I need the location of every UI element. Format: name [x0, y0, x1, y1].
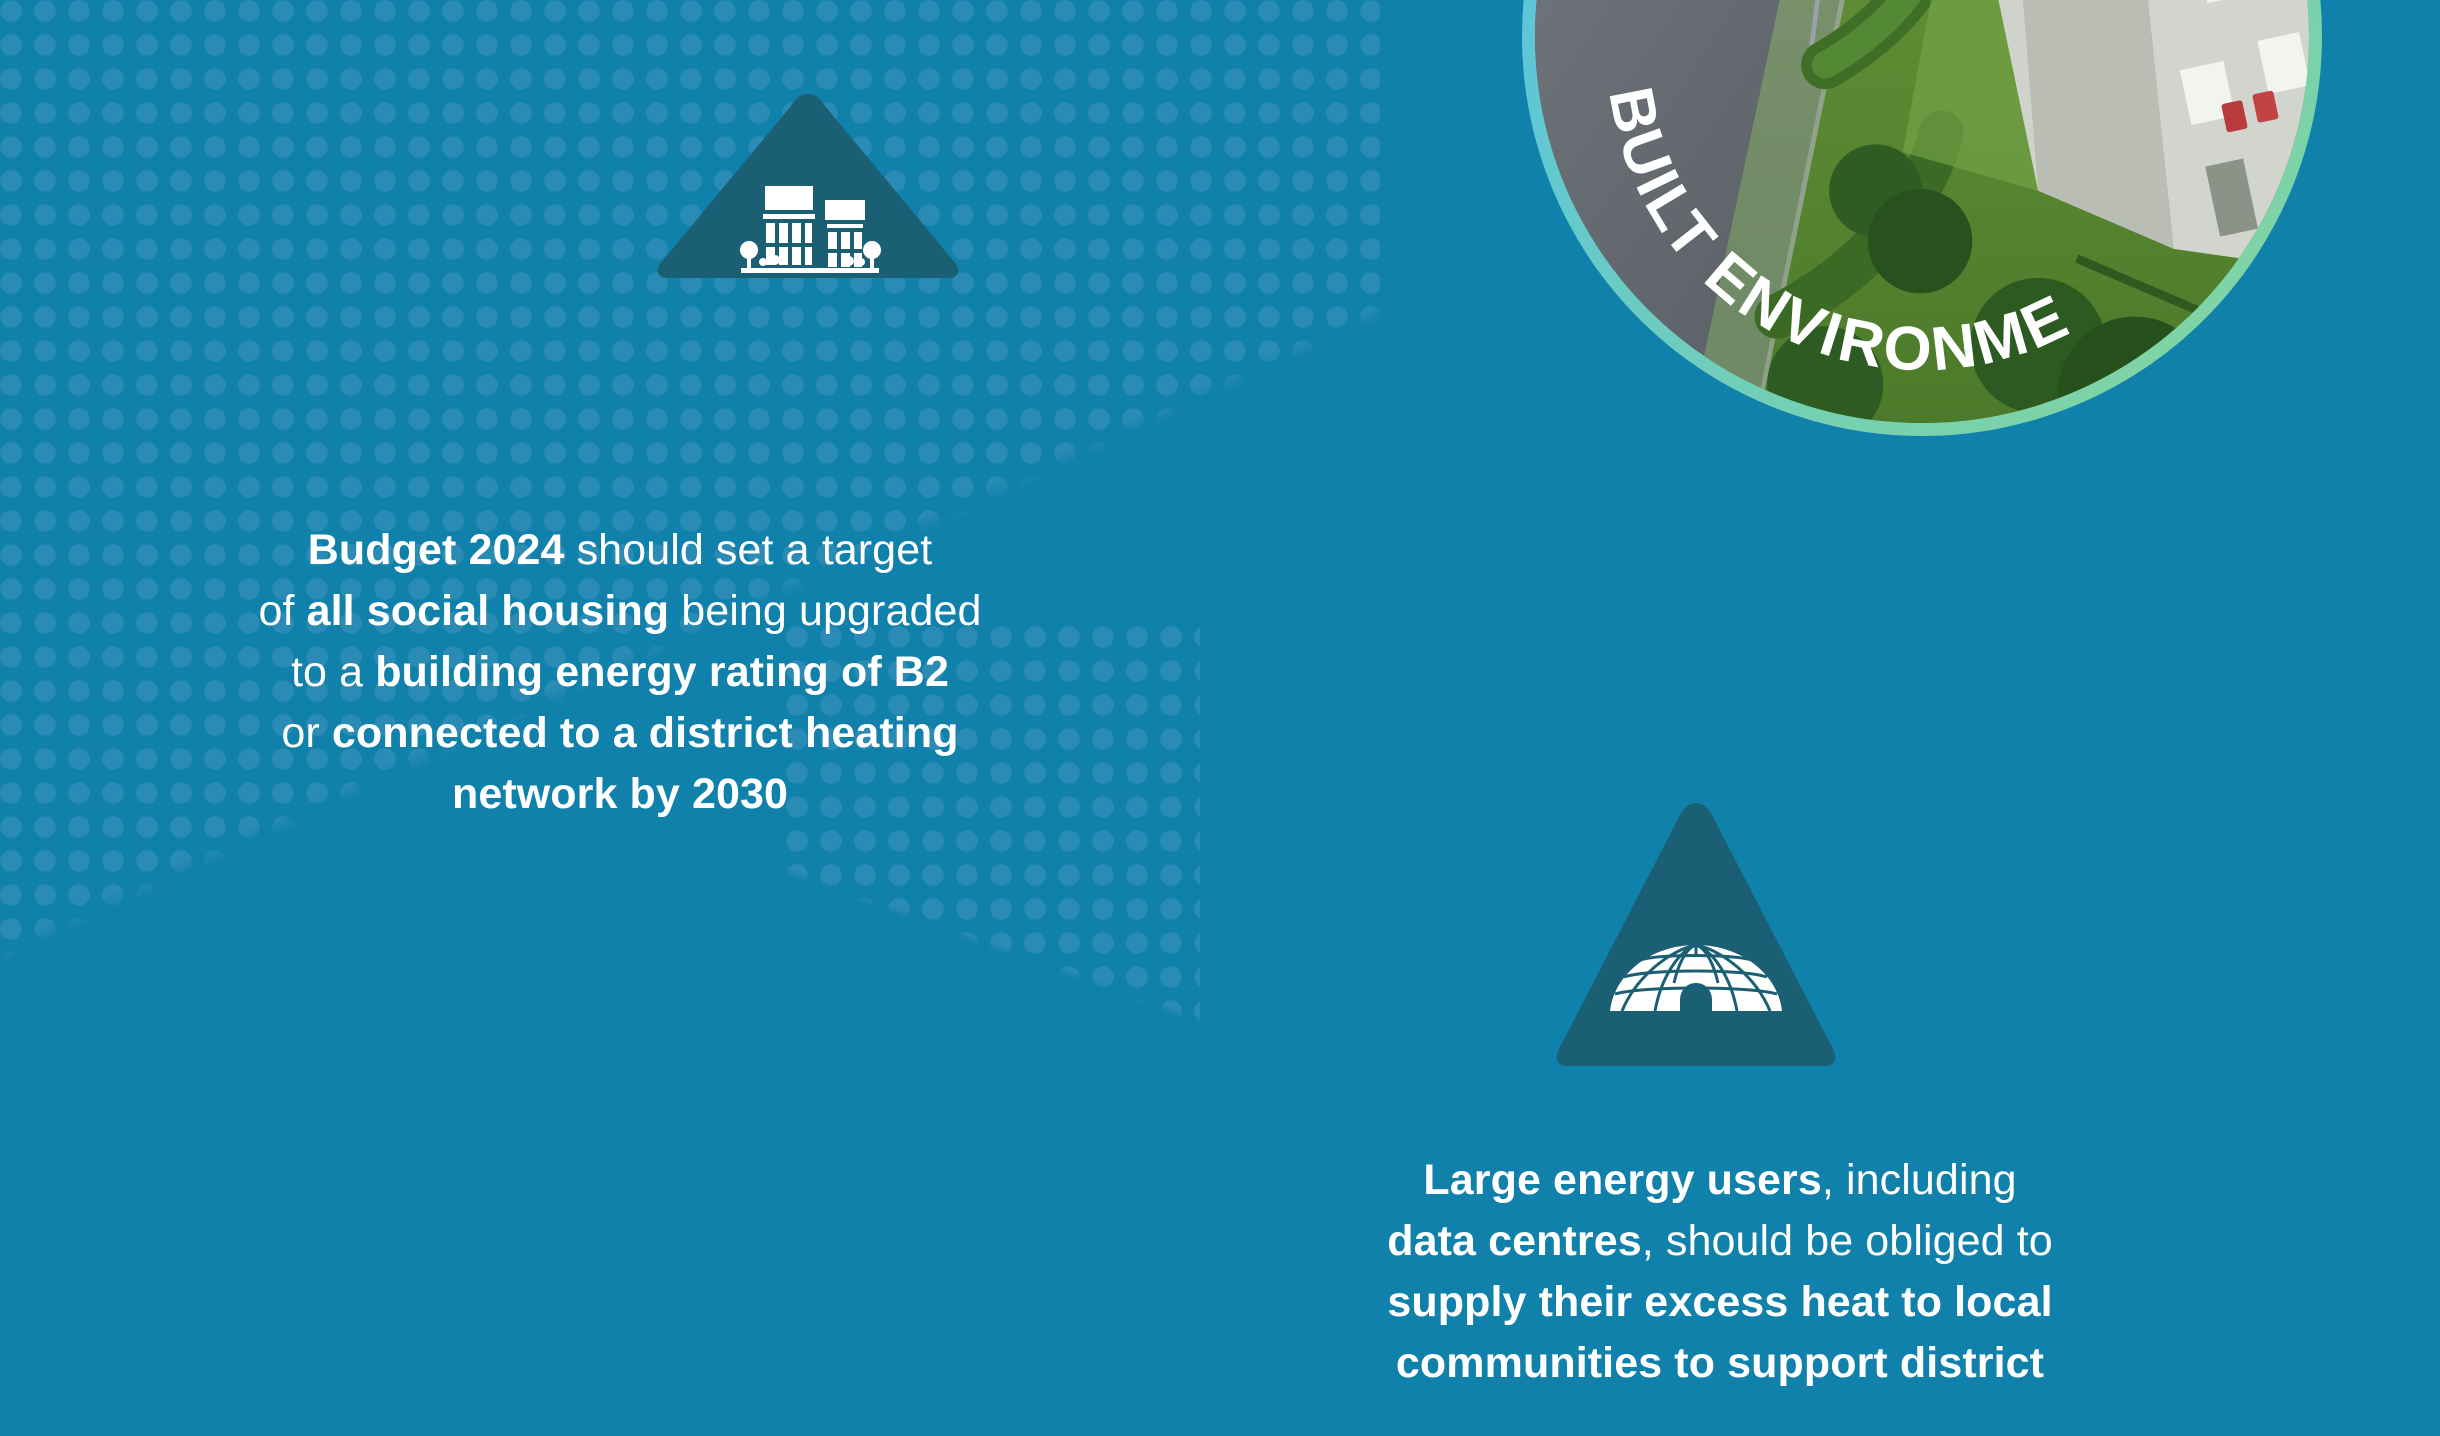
message-line: data centres, should be obliged to	[1250, 1211, 2190, 1272]
emphasis-text: Large energy users	[1423, 1156, 1822, 1204]
plain-text: to a	[291, 648, 375, 696]
emphasis-text: all social housing	[307, 587, 670, 635]
emphasis-text: supply their excess heat to local	[1387, 1278, 2052, 1326]
message-line: or connected to a district heating	[150, 703, 1090, 764]
plain-text: , should be obliged to	[1642, 1217, 2053, 1265]
plain-text: should set a target	[565, 526, 933, 574]
message-line: Budget 2024 should set a target	[150, 520, 1090, 581]
dome-triangle	[1552, 797, 1840, 1072]
message-line: to a building energy rating of B2	[150, 642, 1090, 703]
dome-grid-icon	[1552, 797, 1840, 1072]
plain-text: or	[281, 709, 331, 757]
plain-text: , including	[1822, 1156, 2017, 1204]
message-line: of all social housing being upgraded	[150, 581, 1090, 642]
message-line: communities to support district	[1250, 1333, 2190, 1394]
emphasis-text: data centres	[1387, 1217, 1642, 1265]
plain-text: of	[258, 587, 306, 635]
message-line: supply their excess heat to local	[1250, 1272, 2190, 1333]
plain-text: being upgraded	[669, 587, 981, 635]
built-environment-badge: BUILT ENVIRONMENT	[1522, 0, 2322, 436]
message-line: network by 2030	[150, 764, 1090, 825]
emphasis-text: connected to a district heating	[332, 709, 959, 757]
message-line: Large energy users, including	[1250, 1150, 2190, 1211]
message-heat: Large energy users, includingdata centre…	[1250, 1150, 2190, 1394]
city-buildings-icon	[653, 90, 963, 280]
emphasis-text: building energy rating of B2	[375, 648, 949, 696]
poster-canvas: Budget 2024 should set a targetof all so…	[0, 0, 2440, 1436]
city-buildings-triangle	[653, 90, 963, 280]
emphasis-text: network by 2030	[452, 770, 788, 818]
badge-label-text: BUILT ENVIRONMENT	[1498, 0, 2080, 385]
emphasis-text: communities to support district	[1396, 1339, 2044, 1387]
message-housing: Budget 2024 should set a targetof all so…	[150, 520, 1090, 825]
emphasis-text: Budget 2024	[308, 526, 565, 574]
badge-label: BUILT ENVIRONMENT	[1522, 0, 2322, 436]
